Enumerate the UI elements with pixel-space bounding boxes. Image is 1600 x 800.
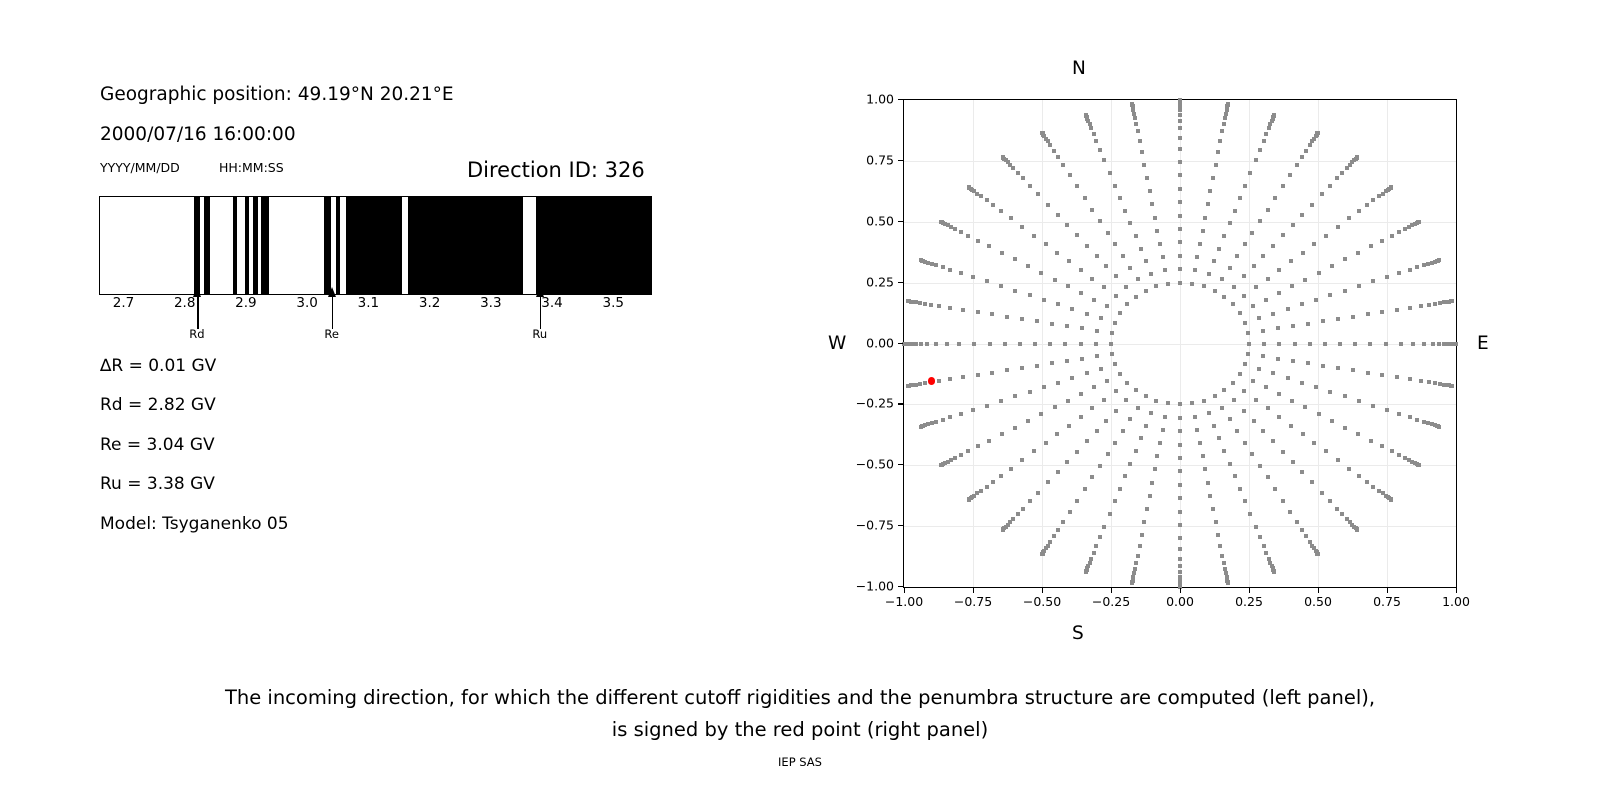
sky-direction-point xyxy=(1243,321,1247,325)
sky-map-y-tick-mark xyxy=(898,221,903,222)
sky-direction-point xyxy=(1433,302,1437,306)
sky-direction-point xyxy=(1417,220,1421,224)
sky-direction-point xyxy=(1304,534,1308,538)
sky-map-x-tick-mark xyxy=(1318,588,1319,593)
sky-direction-point xyxy=(987,439,991,443)
sky-direction-point xyxy=(1321,364,1325,368)
rigidity-tick-label: 3.5 xyxy=(603,295,624,311)
sky-direction-point xyxy=(1139,436,1143,440)
sky-map-y-tick-label: −1.00 xyxy=(846,579,894,594)
sky-direction-point xyxy=(1330,419,1334,423)
sky-direction-point xyxy=(1291,324,1295,328)
sky-direction-point xyxy=(1385,408,1389,412)
sky-direction-point xyxy=(1273,196,1277,200)
sky-direction-point xyxy=(1288,510,1292,514)
sky-direction-point xyxy=(1178,200,1182,204)
sky-direction-point xyxy=(1125,381,1129,385)
sky-direction-point xyxy=(1258,464,1262,468)
sky-direction-point xyxy=(1136,554,1140,558)
compass-label-west: W xyxy=(828,333,846,354)
sky-direction-point xyxy=(1277,415,1281,419)
sky-direction-point xyxy=(1021,507,1025,511)
sky-direction-point xyxy=(1056,470,1060,474)
sky-map-x-tick-label: 0.50 xyxy=(1304,594,1332,609)
sky-direction-point xyxy=(1044,441,1048,445)
sky-direction-point xyxy=(1262,342,1266,346)
sky-direction-point xyxy=(939,220,943,224)
sky-direction-point xyxy=(1144,259,1148,263)
rigidity-tick-label: 3.2 xyxy=(419,295,440,311)
sky-direction-point xyxy=(1056,528,1060,532)
sky-direction-point xyxy=(1198,242,1202,246)
sky-direction-point xyxy=(1415,265,1419,269)
sky-direction-point xyxy=(1300,528,1304,532)
sky-direction-point xyxy=(1243,362,1247,366)
sky-direction-point xyxy=(1042,298,1046,302)
sky-direction-point xyxy=(971,408,975,412)
sky-direction-point xyxy=(1238,196,1242,200)
penumbra-chart xyxy=(99,196,652,295)
sky-direction-point xyxy=(1419,304,1423,308)
sky-direction-point xyxy=(1328,499,1332,503)
sky-direction-point xyxy=(1046,203,1050,207)
sky-direction-point xyxy=(1178,227,1182,231)
sky-direction-point xyxy=(1264,132,1268,136)
sky-direction-point xyxy=(1422,263,1426,267)
arrow-shaft xyxy=(540,295,542,329)
sky-direction-point xyxy=(1330,264,1334,268)
sky-direction-point xyxy=(1020,366,1024,370)
sky-direction-point xyxy=(1136,406,1140,410)
sky-direction-point xyxy=(1104,419,1108,423)
selected-direction-point[interactable] xyxy=(928,377,936,385)
sky-direction-point xyxy=(1397,271,1401,275)
sky-direction-point xyxy=(1261,254,1265,258)
sky-direction-point xyxy=(1231,381,1235,385)
sky-direction-point xyxy=(953,456,957,460)
sky-direction-point xyxy=(1212,424,1216,428)
sky-direction-point xyxy=(1252,419,1256,423)
sky-direction-point xyxy=(1178,136,1182,140)
sky-direction-point xyxy=(1353,342,1357,346)
sky-direction-point xyxy=(1001,528,1005,532)
sky-direction-point xyxy=(1300,381,1304,385)
sky-direction-point xyxy=(1094,544,1098,548)
sky-direction-point xyxy=(1288,173,1292,177)
sky-direction-point xyxy=(1155,229,1159,233)
sky-map-y-tick-mark xyxy=(898,343,903,344)
sky-direction-point xyxy=(1277,268,1281,272)
sky-direction-point xyxy=(1262,544,1266,548)
sky-direction-point xyxy=(1216,150,1220,154)
sky-direction-point xyxy=(1134,122,1138,126)
sky-direction-point xyxy=(1075,499,1079,503)
time-format-hint: HH:MM:SS xyxy=(219,160,284,175)
sky-direction-point xyxy=(1450,299,1454,303)
sky-direction-point xyxy=(1316,131,1320,135)
sky-direction-point xyxy=(1233,209,1237,213)
sky-direction-point xyxy=(1336,317,1340,321)
sky-direction-point xyxy=(1005,368,1009,372)
sky-direction-point xyxy=(1193,415,1197,419)
sky-direction-point xyxy=(1079,392,1083,396)
sky-direction-point xyxy=(1272,113,1276,117)
sky-direction-point xyxy=(1323,342,1327,346)
sky-direction-point xyxy=(1422,420,1426,424)
sky-direction-point xyxy=(1178,402,1182,406)
sky-direction-point xyxy=(1095,254,1099,258)
sky-direction-point xyxy=(1271,371,1275,375)
sky-direction-point xyxy=(1178,214,1182,218)
sky-direction-point xyxy=(1211,176,1215,180)
right-panel: N S W E −1.00−0.75−0.50−0.250.000.250.50… xyxy=(800,0,1600,680)
sky-direction-point xyxy=(1067,424,1071,428)
penumbra-forbidden-band xyxy=(233,197,237,294)
sky-direction-point xyxy=(1303,278,1307,282)
sky-direction-point xyxy=(1123,474,1127,478)
sky-direction-point xyxy=(948,306,952,310)
sky-direction-point xyxy=(1454,342,1458,346)
sky-direction-point xyxy=(1195,255,1199,259)
sky-direction-point xyxy=(1028,293,1032,297)
sky-direction-point xyxy=(1094,139,1098,143)
sky-map-y-tick-mark xyxy=(898,403,903,404)
sky-map-y-tick-label: 1.00 xyxy=(846,92,894,107)
sky-direction-point xyxy=(1312,441,1316,445)
sky-direction-point xyxy=(923,381,927,385)
sky-direction-point xyxy=(1142,520,1146,524)
sky-direction-point xyxy=(1411,342,1415,346)
sky-direction-point xyxy=(1238,487,1242,491)
sky-direction-point xyxy=(1335,176,1339,180)
sky-direction-point xyxy=(971,275,975,279)
sky-direction-point xyxy=(1233,474,1237,478)
sky-direction-point xyxy=(1271,244,1275,248)
sky-direction-point xyxy=(976,239,980,243)
sky-direction-point xyxy=(1178,113,1182,117)
sky-direction-point xyxy=(999,474,1003,478)
sky-direction-point xyxy=(1085,439,1089,443)
sky-direction-point xyxy=(1061,520,1065,524)
sky-direction-point xyxy=(1321,319,1325,323)
sky-direction-point xyxy=(1178,267,1182,271)
sky-direction-point xyxy=(1324,449,1328,453)
sky-direction-point xyxy=(1246,352,1250,356)
sky-direction-point xyxy=(1222,561,1226,565)
sky-direction-point xyxy=(1231,302,1235,306)
sky-direction-point xyxy=(1300,155,1304,159)
sky-direction-point xyxy=(1450,384,1454,388)
sky-direction-point xyxy=(1178,160,1182,164)
sky-direction-point xyxy=(1121,429,1125,433)
sky-direction-point xyxy=(1154,284,1158,288)
sky-direction-point xyxy=(1128,462,1132,466)
sky-direction-point xyxy=(1040,131,1044,135)
sky-direction-point xyxy=(991,203,995,207)
sky-direction-point xyxy=(1291,223,1295,227)
sky-direction-point xyxy=(1134,234,1138,238)
sky-direction-point xyxy=(1065,223,1069,227)
sky-direction-point xyxy=(1242,409,1246,413)
sky-direction-point xyxy=(1193,268,1197,272)
sky-direction-point xyxy=(929,303,933,307)
sky-direction-point xyxy=(1114,389,1118,393)
sky-direction-point xyxy=(972,342,976,346)
sky-direction-point xyxy=(1235,254,1239,258)
sky-direction-point xyxy=(1108,171,1112,175)
parameter-value: ∆R = 0.01 GV xyxy=(100,356,216,376)
sky-direction-point xyxy=(1366,312,1370,316)
sky-direction-point xyxy=(1397,453,1401,457)
sky-direction-point xyxy=(1228,266,1232,270)
sky-direction-point xyxy=(1208,189,1212,193)
sky-direction-point xyxy=(1055,432,1059,436)
sky-map-x-tick-mark xyxy=(1249,588,1250,593)
penumbra-forbidden-band xyxy=(204,197,210,294)
sky-direction-point xyxy=(1178,119,1182,123)
sky-direction-point xyxy=(1208,494,1212,498)
sky-direction-point xyxy=(1261,329,1265,333)
sky-direction-point xyxy=(1050,361,1054,365)
sky-direction-point xyxy=(1397,412,1401,416)
sky-direction-point xyxy=(1178,429,1182,433)
sky-direction-point xyxy=(1222,449,1226,453)
sky-direction-point xyxy=(1419,379,1423,383)
sky-direction-point xyxy=(1395,375,1399,379)
sky-direction-point xyxy=(985,404,989,408)
sky-direction-point xyxy=(1258,535,1262,539)
sky-map-plot-area xyxy=(903,99,1457,588)
sky-direction-point xyxy=(1040,552,1044,556)
sky-direction-point xyxy=(1052,534,1056,538)
sky-direction-point xyxy=(1250,452,1254,456)
sky-direction-point xyxy=(1201,229,1205,233)
sky-direction-point xyxy=(999,399,1003,403)
sky-direction-point xyxy=(1070,307,1074,311)
sky-direction-point xyxy=(1018,342,1022,346)
sky-direction-point xyxy=(1212,259,1216,263)
sky-direction-point xyxy=(985,279,989,283)
sky-direction-point xyxy=(1128,417,1132,421)
rigidity-tick-label: 2.8 xyxy=(174,295,195,311)
sky-direction-point xyxy=(1356,251,1360,255)
rigidity-tick-label: 3.0 xyxy=(296,295,317,311)
sky-direction-point xyxy=(1148,189,1152,193)
sky-direction-point xyxy=(985,198,989,202)
sky-direction-point xyxy=(1066,399,1070,403)
cutoff-marker-label: Ru xyxy=(532,327,547,341)
sky-direction-point xyxy=(1286,307,1290,311)
sky-direction-point xyxy=(1134,561,1138,565)
sky-direction-point xyxy=(1140,150,1144,154)
sky-direction-point xyxy=(1310,203,1314,207)
sky-direction-point xyxy=(1238,311,1242,315)
sky-direction-point xyxy=(1113,499,1117,503)
sky-map-x-tick-label: −0.25 xyxy=(1092,594,1130,609)
sky-direction-point xyxy=(1291,460,1295,464)
cutoff-marker-label: Rd xyxy=(189,327,204,341)
sky-direction-point xyxy=(979,194,983,198)
sky-direction-point xyxy=(1314,298,1318,302)
sky-direction-point xyxy=(1217,436,1221,440)
sky-direction-point xyxy=(948,268,952,272)
sky-direction-point xyxy=(1289,424,1293,428)
sky-direction-point xyxy=(1272,570,1276,574)
arrow-head-icon xyxy=(536,287,544,297)
sky-direction-point xyxy=(1207,272,1211,276)
sky-direction-point xyxy=(1408,306,1412,310)
sky-direction-point xyxy=(1032,449,1036,453)
sky-direction-point xyxy=(1261,354,1265,358)
sky-direction-point xyxy=(1079,342,1083,346)
sky-direction-point xyxy=(1000,432,1004,436)
sky-direction-point xyxy=(1271,312,1275,316)
sky-direction-point xyxy=(1201,454,1205,458)
sky-direction-point xyxy=(1431,342,1435,346)
sky-direction-point xyxy=(1336,458,1340,462)
sky-direction-point xyxy=(1306,361,1310,365)
sky-direction-point xyxy=(1347,467,1351,471)
sky-direction-point xyxy=(1178,416,1182,420)
sky-direction-point xyxy=(967,498,971,502)
sky-direction-point xyxy=(1145,176,1149,180)
compass-label-south: S xyxy=(1072,623,1084,644)
sky-map-x-tick-label: 0.75 xyxy=(1373,594,1401,609)
sky-direction-point xyxy=(1222,234,1226,238)
sky-direction-point xyxy=(1079,291,1083,295)
sky-direction-point xyxy=(1105,304,1109,308)
sky-direction-point xyxy=(1140,533,1144,537)
sky-direction-point xyxy=(979,489,983,493)
sky-direction-point xyxy=(976,373,980,377)
sky-direction-point xyxy=(1351,315,1355,319)
sky-direction-point xyxy=(1144,289,1148,293)
sky-map-y-tick-mark xyxy=(898,282,903,283)
sky-direction-point xyxy=(1109,342,1113,346)
sky-direction-point xyxy=(1084,113,1088,117)
sky-direction-point xyxy=(1347,216,1351,220)
sky-direction-point xyxy=(967,185,971,189)
sky-direction-point xyxy=(1365,480,1369,484)
date-format-hint: YYYY/MM/DD xyxy=(100,160,180,175)
sky-direction-point xyxy=(1144,394,1148,398)
sky-direction-point xyxy=(1195,428,1199,432)
sky-direction-point xyxy=(1092,551,1096,555)
sky-direction-point xyxy=(1178,456,1182,460)
sky-direction-point xyxy=(1084,570,1088,574)
rigidity-tick-label: 3.4 xyxy=(541,295,562,311)
sky-direction-point xyxy=(906,299,910,303)
sky-direction-point xyxy=(1089,126,1093,130)
sky-direction-point xyxy=(959,412,963,416)
sky-direction-point xyxy=(1427,380,1431,384)
sky-direction-point xyxy=(1226,581,1230,585)
penumbra-forbidden-band xyxy=(253,197,257,294)
sky-direction-point xyxy=(1366,371,1370,375)
sky-direction-point xyxy=(1048,143,1052,147)
sky-direction-point xyxy=(1369,244,1373,248)
sky-direction-point xyxy=(1340,171,1344,175)
sky-direction-point xyxy=(966,234,970,238)
sky-direction-point xyxy=(1308,342,1312,346)
sky-map-x-tick-mark xyxy=(1180,588,1181,593)
arrow-head-icon xyxy=(193,287,201,297)
sky-direction-point xyxy=(1235,429,1239,433)
sky-direction-point xyxy=(1113,441,1117,445)
sky-direction-point xyxy=(1254,158,1258,162)
sky-direction-point xyxy=(988,342,992,346)
sky-map-y-tick-mark xyxy=(898,160,903,161)
sky-direction-point xyxy=(1070,376,1074,380)
sky-direction-point xyxy=(1190,282,1194,286)
sky-direction-point xyxy=(1083,487,1087,491)
sky-direction-point xyxy=(1178,281,1182,285)
sky-direction-point xyxy=(1214,163,1218,167)
sky-direction-point xyxy=(1202,399,1206,403)
sky-direction-point xyxy=(957,342,961,346)
sky-direction-point xyxy=(1243,242,1247,246)
sky-direction-point xyxy=(1113,184,1117,188)
sky-direction-point xyxy=(1317,412,1321,416)
sky-direction-point xyxy=(1368,342,1372,346)
penumbra-forbidden-band xyxy=(346,197,402,294)
sky-direction-point xyxy=(919,425,923,429)
sky-direction-point xyxy=(1056,155,1060,159)
sky-direction-point xyxy=(990,371,994,375)
sky-direction-point xyxy=(1355,155,1359,159)
sky-direction-point xyxy=(1437,425,1441,429)
sky-direction-point xyxy=(1090,208,1094,212)
sky-direction-point xyxy=(1079,268,1083,272)
sky-direction-point xyxy=(1343,426,1347,430)
sky-direction-point xyxy=(1380,444,1384,448)
sky-direction-point xyxy=(1295,520,1299,524)
sky-direction-point xyxy=(1217,247,1221,251)
sky-direction-point xyxy=(1335,507,1339,511)
sky-direction-point xyxy=(1251,304,1255,308)
sky-direction-point xyxy=(961,375,965,379)
sky-direction-point xyxy=(1056,213,1060,217)
sky-map-x-tick-mark xyxy=(904,588,905,593)
sky-direction-point xyxy=(1013,394,1017,398)
sky-direction-point xyxy=(1384,342,1388,346)
sky-direction-point xyxy=(1013,289,1017,293)
sky-direction-point xyxy=(1261,429,1265,433)
caption-line-2: is signed by the red point (right panel) xyxy=(0,714,1600,746)
sky-direction-point xyxy=(1161,255,1165,259)
sky-direction-point xyxy=(948,377,952,381)
sky-direction-point xyxy=(1254,398,1258,402)
sky-direction-point xyxy=(1340,512,1344,516)
sky-direction-point xyxy=(1286,376,1290,380)
sky-direction-point xyxy=(1290,284,1294,288)
sky-map-y-tick-mark xyxy=(898,586,903,587)
sky-direction-point xyxy=(1102,525,1106,529)
sky-direction-point xyxy=(1417,463,1421,467)
sky-map-y-tick-label: 0.75 xyxy=(846,152,894,167)
sky-direction-point xyxy=(1213,394,1217,398)
sky-direction-point xyxy=(1291,359,1295,363)
sky-direction-point xyxy=(1258,148,1262,152)
caption-line-1: The incoming direction, for which the di… xyxy=(0,682,1600,714)
sky-direction-point xyxy=(1144,424,1148,428)
sky-direction-point xyxy=(1113,321,1117,325)
sky-direction-point xyxy=(1110,352,1114,356)
grid-line-horizontal xyxy=(904,222,1456,223)
sky-direction-point xyxy=(1232,285,1236,289)
sky-direction-point xyxy=(930,421,934,425)
sky-direction-point xyxy=(1042,385,1046,389)
